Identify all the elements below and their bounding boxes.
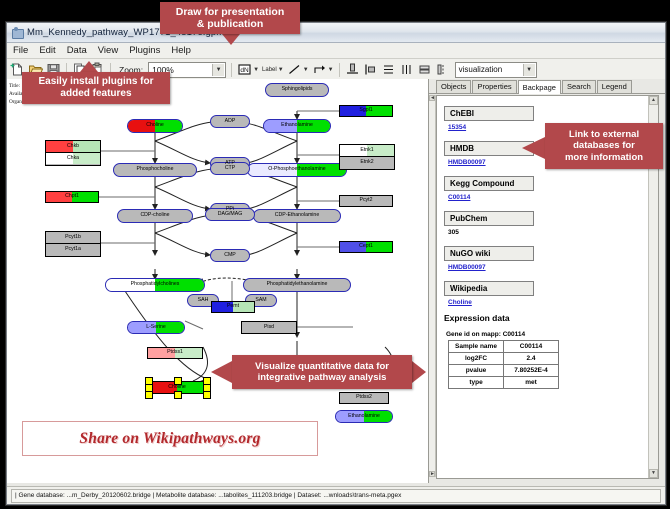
node-label: Ptdss2 xyxy=(356,395,372,400)
node-label: Etnk1 xyxy=(360,148,373,153)
pathway-node-l-serine-left[interactable]: L-Serine xyxy=(127,321,185,334)
align-bottom-icon[interactable] xyxy=(345,62,360,77)
callout-links-line2: databases for xyxy=(573,140,635,151)
menu-item-view[interactable]: View xyxy=(97,45,119,56)
menu-item-help[interactable]: Help xyxy=(170,45,192,56)
screenshot-root: Mm_Kennedy_pathway_WP1771_45176.gpml Fil… xyxy=(0,0,670,509)
pathway-node-ethanolamine[interactable]: Ethanolamine xyxy=(263,119,331,133)
backpage-header-chebi: ChEBI xyxy=(444,106,534,121)
pathway-gene-chkb-chka[interactable]: Chkb Chka xyxy=(45,140,101,166)
gene-pcyt1b[interactable]: Pcyt1b xyxy=(46,232,100,244)
datanode-icon[interactable]: dN xyxy=(237,62,252,77)
callout-draw-line2: & publication xyxy=(197,18,264,30)
node-label: Ptdss1 xyxy=(167,350,183,355)
pathway-node-ethanolamine-lower[interactable]: Ethanolamine xyxy=(335,410,393,423)
backpage-header-kegg: Kegg Compound xyxy=(444,176,534,191)
tab-backpage[interactable]: Backpage xyxy=(518,80,561,94)
distribute-horizontal-icon[interactable] xyxy=(399,62,414,77)
callout-visualize: Visualize quantitative data for integrat… xyxy=(232,355,412,389)
chevron-down-icon[interactable]: ▼ xyxy=(278,67,284,73)
node-label: L-Serine xyxy=(146,325,166,330)
datanode-tool-group[interactable]: dN ▼ xyxy=(237,62,259,77)
node-label: Chka xyxy=(67,156,79,161)
pathway-node-phosphocholine[interactable]: Phosphocholine xyxy=(113,163,197,177)
pathway-node-cdp-ethanolamine[interactable]: CDP-Ethanolamine xyxy=(253,209,341,223)
table-row: pvalue 7.80252E-4 xyxy=(449,365,559,377)
pathway-gene-pemt[interactable]: Pemt xyxy=(211,301,255,313)
backpage-link-kegg[interactable]: C00114 xyxy=(448,194,658,201)
chevron-down-icon[interactable]: ▼ xyxy=(303,67,309,73)
chevron-down-icon[interactable]: ▼ xyxy=(523,64,535,76)
callout-links-line1: Link to external xyxy=(569,129,639,140)
menu-bar: File Edit Data View Plugins Help xyxy=(7,43,665,59)
app-icon xyxy=(11,27,23,39)
visualization-combobox[interactable]: visualization ▼ xyxy=(455,62,537,78)
pathway-node-phosphatidylcholines[interactable]: Phosphatidylcholines xyxy=(105,278,205,292)
selection-handle[interactable] xyxy=(145,391,153,399)
backpage-link-nugowiki[interactable]: HMDB00097 xyxy=(448,264,658,271)
backpage-header-wikipedia: Wikipedia xyxy=(444,281,534,296)
pathway-gene-pisd[interactable]: Pisd xyxy=(241,321,297,334)
chevron-down-icon[interactable]: ▼ xyxy=(253,67,259,73)
label-button[interactable]: Label xyxy=(262,67,277,73)
tab-objects[interactable]: Objects xyxy=(436,80,471,93)
svg-text:dN: dN xyxy=(240,67,249,74)
node-label: Phosphocholine xyxy=(137,167,174,172)
callout-draw-line1: Draw for presentation xyxy=(176,6,285,18)
line-tool-group[interactable]: ▼ xyxy=(287,62,309,77)
callout-plugins-line1: Easily install plugins for xyxy=(38,76,153,88)
pathway-node-cdp-choline[interactable]: CDP-choline xyxy=(117,209,193,223)
node-label: Phosphatidylethanolamine xyxy=(267,282,328,287)
node-label: Chpt1 xyxy=(65,194,79,199)
callout-plugins-arrow xyxy=(80,61,98,72)
backpage-link-wikipedia[interactable]: Choline xyxy=(448,299,658,306)
pathway-gene-etnk1-etnk2[interactable]: Etnk1 Etnk2 xyxy=(339,144,395,170)
scroll-down-arrow-icon[interactable]: ▼ xyxy=(649,469,658,478)
pathway-gene-cept1[interactable]: Cept1 xyxy=(339,241,393,253)
gene-etnk2[interactable]: Etnk2 xyxy=(340,157,394,168)
node-label: SAM xyxy=(255,298,266,303)
node-label: DAG/MAG xyxy=(218,212,243,217)
cell-key: Sample name xyxy=(449,341,504,353)
node-label: Sphingolipids xyxy=(282,87,313,92)
menu-item-data[interactable]: Data xyxy=(66,45,88,56)
chevron-down-icon[interactable]: ▼ xyxy=(212,64,224,76)
callout-visualize-line1: Visualize quantitative data for xyxy=(255,361,389,372)
node-label: Pcyt2 xyxy=(360,198,373,203)
callout-links-line3: more information xyxy=(565,152,643,163)
toolbar-separator xyxy=(339,63,340,77)
cell-value: met xyxy=(504,377,559,389)
gene-id-on-mapp: Gene id on mapp: C00114 xyxy=(446,331,658,338)
backpage-header-nugowiki: NuGO wiki xyxy=(444,246,534,261)
elbow-connector-icon[interactable] xyxy=(312,62,327,77)
node-label: Ethanolamine xyxy=(348,414,380,419)
expression-data-table: Sample name C00114 log2FC 2.4 pvalue 7.8… xyxy=(448,340,559,389)
cell-key: type xyxy=(449,377,504,389)
chevron-down-icon[interactable]: ▼ xyxy=(328,67,334,73)
pathway-node-adp[interactable]: ADP xyxy=(210,115,250,128)
gene-chka[interactable]: Chka xyxy=(46,153,100,164)
cell-value: 2.4 xyxy=(504,353,559,365)
selection-handle[interactable] xyxy=(203,391,211,399)
expression-data-title: Expression data xyxy=(444,313,658,323)
pathway-gene-ptdss1[interactable]: Ptdss1 xyxy=(147,347,203,359)
tab-properties[interactable]: Properties xyxy=(472,80,516,93)
tab-search[interactable]: Search xyxy=(562,80,596,93)
node-label: Ethanolamine xyxy=(281,123,313,128)
callout-plugins: Easily install plugins for added feature… xyxy=(22,72,170,104)
scroll-right-arrow-icon[interactable]: ► xyxy=(429,471,435,477)
node-label: CDP-Ethanolamine xyxy=(275,213,319,218)
pathway-node-phosphatidylethanolamine[interactable]: Phosphatidylethanolamine xyxy=(243,278,351,292)
cell-value: C00114 xyxy=(504,341,559,353)
toolbar-separator xyxy=(231,63,232,77)
node-label: Pemt xyxy=(227,304,239,309)
table-row: type met xyxy=(449,377,559,389)
pathway-node-choline-top[interactable]: Choline xyxy=(127,119,183,133)
node-label: Phosphatidylcholines xyxy=(131,282,180,287)
pathway-gene-ptdss2[interactable]: Ptdss2 xyxy=(339,392,389,404)
node-label: SAH xyxy=(198,298,209,303)
callout-draw-arrow xyxy=(222,34,240,45)
menu-item-plugins[interactable]: Plugins xyxy=(128,45,161,56)
backpage-value-pubchem: 305 xyxy=(448,229,658,236)
status-bar: | Gene database: ...m_Derby_20120602.bri… xyxy=(7,486,665,504)
gene-pcyt1a[interactable]: Pcyt1a xyxy=(46,244,100,255)
backpage-header-pubchem: PubChem xyxy=(444,211,534,226)
node-label: Choline xyxy=(146,123,164,128)
panel-left-scrollbar[interactable]: ◄ ► xyxy=(429,95,436,477)
node-label: ADP xyxy=(225,119,236,124)
visualization-value: visualization xyxy=(459,65,503,74)
callout-draw: Draw for presentation & publication xyxy=(160,2,300,34)
gene-etnk1[interactable]: Etnk1 xyxy=(340,145,394,157)
node-label: Pisd xyxy=(264,325,274,330)
pathway-gene-sgpl1[interactable]: Sgpl1 xyxy=(339,105,393,117)
node-label: CDP-choline xyxy=(140,213,169,218)
group-icon[interactable] xyxy=(435,62,450,77)
callout-share-text: Share on Wikipathways.org xyxy=(79,430,260,448)
backpage-header-hmdb: HMDB xyxy=(444,141,534,156)
scroll-left-arrow-icon[interactable]: ◄ xyxy=(429,95,435,101)
table-row: Sample name C00114 xyxy=(449,341,559,353)
table-row: log2FC 2.4 xyxy=(449,353,559,365)
callout-plugins-line2: added features xyxy=(60,88,131,100)
pathway-gene-pcyt2[interactable]: Pcyt2 xyxy=(339,195,393,207)
label-tool-group[interactable]: Label ▼ xyxy=(262,67,284,73)
selection-handle[interactable] xyxy=(174,391,182,399)
window-titlebar: Mm_Kennedy_pathway_WP1771_45176.gpml xyxy=(7,23,665,43)
node-label: CTP xyxy=(225,166,235,171)
node-label: Choline xyxy=(168,385,186,390)
scroll-up-arrow-icon[interactable]: ▲ xyxy=(649,96,658,105)
tab-legend[interactable]: Legend xyxy=(597,80,632,93)
node-label: Sgpl1 xyxy=(359,108,372,113)
node-label: CMP xyxy=(224,253,236,258)
cell-key: log2FC xyxy=(449,353,504,365)
gene-chkb[interactable]: Chkb xyxy=(46,141,100,153)
pathway-node-o-phosphoethanolamine[interactable]: O-Phosphoethanolamine xyxy=(247,163,347,177)
align-left-icon[interactable] xyxy=(363,62,378,77)
node-label: Pcyt1a xyxy=(65,247,81,252)
menu-item-file[interactable]: File xyxy=(12,45,29,56)
node-label: O-Phosphoethanolamine xyxy=(268,167,325,172)
status-text: | Gene database: ...m_Derby_20120602.bri… xyxy=(11,489,661,503)
distribute-vertical-icon[interactable] xyxy=(381,62,396,77)
pathway-gene-pcyt1b-pcyt1a[interactable]: Pcyt1b Pcyt1a xyxy=(45,231,101,257)
pathway-node-sphingolipids[interactable]: Sphingolipids xyxy=(265,83,329,97)
pathway-node-cmp[interactable]: CMP xyxy=(210,249,250,262)
pathway-gene-chpt1[interactable]: Chpt1 xyxy=(45,191,99,203)
line-icon[interactable] xyxy=(287,62,302,77)
interaction-tool-group[interactable]: ▼ xyxy=(312,62,334,77)
stack-icon[interactable] xyxy=(417,62,432,77)
callout-visualize-line2: integrative pathway analysis xyxy=(258,372,387,383)
node-label: Etnk2 xyxy=(360,160,373,165)
node-label: Pcyt1b xyxy=(65,235,81,240)
callout-links: Link to external databases for more info… xyxy=(545,123,663,169)
side-panel-tabs: Objects Properties Backpage Search Legen… xyxy=(429,79,665,94)
node-label: Cept1 xyxy=(359,244,373,249)
node-label: Chkb xyxy=(67,144,79,149)
cell-value: 7.80252E-4 xyxy=(504,365,559,377)
callout-share: Share on Wikipathways.org xyxy=(22,421,318,456)
pathway-node-choline-selected-wrap[interactable]: Choline xyxy=(145,377,209,397)
cell-key: pvalue xyxy=(449,365,504,377)
menu-item-edit[interactable]: Edit xyxy=(38,45,56,56)
